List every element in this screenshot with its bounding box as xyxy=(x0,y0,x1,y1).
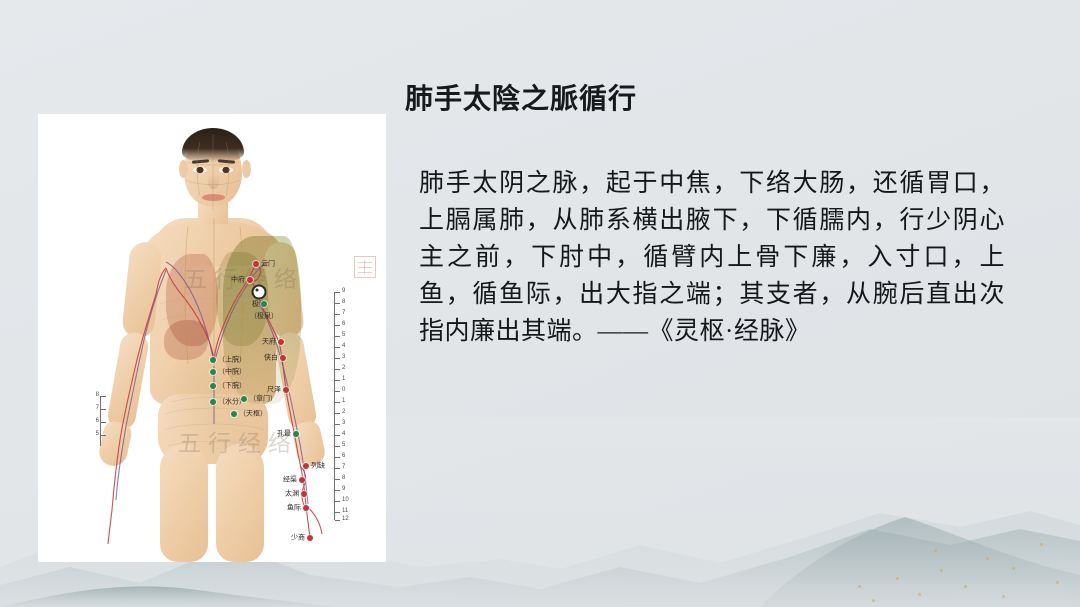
acupoint-marker[interactable] xyxy=(280,355,286,361)
acupoint-label: （极泉） xyxy=(250,313,278,320)
acupoint-marker[interactable] xyxy=(261,301,267,307)
mouth xyxy=(202,194,225,201)
slide-canvas: 9 8 7 6 5 4 3 2 1 0 1 2 3 4 5 6 7 8 9 10 xyxy=(0,0,1080,607)
eye-left xyxy=(193,167,207,173)
acupoint-marker[interactable] xyxy=(253,261,259,267)
acupoint-label: 经渠 xyxy=(283,477,297,484)
body-hand-right xyxy=(291,420,328,469)
acupoint-label: 云门 xyxy=(261,261,275,268)
artist-seal-icon xyxy=(354,256,376,278)
acupoint-marker[interactable] xyxy=(307,535,313,541)
acupoint-label: 天府 xyxy=(262,339,276,346)
nose xyxy=(208,174,219,189)
acupoint-marker[interactable] xyxy=(210,399,216,405)
body-hand-left xyxy=(97,420,134,469)
acupoint-marker[interactable] xyxy=(210,383,216,389)
acupoint-marker[interactable] xyxy=(241,396,247,402)
acupoint-label: （下脘） xyxy=(218,383,246,390)
acupoint-marker[interactable] xyxy=(247,277,253,283)
acupoint-label: 列缺 xyxy=(311,463,325,470)
acupoint-marker[interactable] xyxy=(303,505,309,511)
acupoint-label: （中脘） xyxy=(218,369,246,376)
acupoint-marker[interactable] xyxy=(293,431,299,437)
ear-left xyxy=(179,160,188,178)
acupoint-marker[interactable] xyxy=(210,369,216,375)
body-forearm-left xyxy=(106,330,151,431)
acupoint-marker[interactable] xyxy=(283,387,289,393)
acupoint-label: 孔最 xyxy=(277,431,291,438)
acupoint-label: 侠白 xyxy=(264,355,278,362)
hair xyxy=(182,128,244,162)
acupoint-label: 少商 xyxy=(291,535,305,542)
acupoint-marker[interactable] xyxy=(252,285,267,300)
acupoint-marker[interactable] xyxy=(210,357,216,363)
body-thigh-right xyxy=(216,444,264,562)
eye-right xyxy=(219,167,233,173)
acupoint-marker[interactable] xyxy=(231,411,237,417)
acupoint-label: （章门） xyxy=(249,396,277,403)
page-title: 肺手太陰之脈循行 xyxy=(405,77,637,117)
acupoint-label: 鱼际 xyxy=(287,505,301,512)
acupoint-marker[interactable] xyxy=(299,477,305,483)
acupoint-marker[interactable] xyxy=(303,463,309,469)
acupoint-label: （上脘） xyxy=(218,357,246,364)
ear-right xyxy=(242,160,251,178)
cun-ruler-right: 9 8 7 6 5 4 3 2 1 0 1 2 3 4 5 6 7 8 9 10 xyxy=(334,292,335,520)
meridian-chart-panel: 9 8 7 6 5 4 3 2 1 0 1 2 3 4 5 6 7 8 9 10 xyxy=(38,114,386,562)
body-paragraph: 肺手太阴之脉，起于中焦，下络大肠，还循胃口，上膈属肺，从肺系横出腋下，下循臑内，… xyxy=(419,165,1005,350)
acupoint-label: 尺泽 xyxy=(267,387,281,394)
acupoint-marker[interactable] xyxy=(278,339,284,345)
acupoint-marker[interactable] xyxy=(301,491,307,497)
acupoint-label: 中府 xyxy=(231,277,245,284)
acupoint-label: （天枢） xyxy=(239,411,267,418)
anatomical-figure: 9 8 7 6 5 4 3 2 1 0 1 2 3 4 5 6 7 8 9 10 xyxy=(38,114,386,562)
acupoint-label: 太渊 xyxy=(285,491,299,498)
body-thigh-left xyxy=(160,444,208,562)
cun-ruler-left: 8 7 6 5 xyxy=(100,396,101,446)
